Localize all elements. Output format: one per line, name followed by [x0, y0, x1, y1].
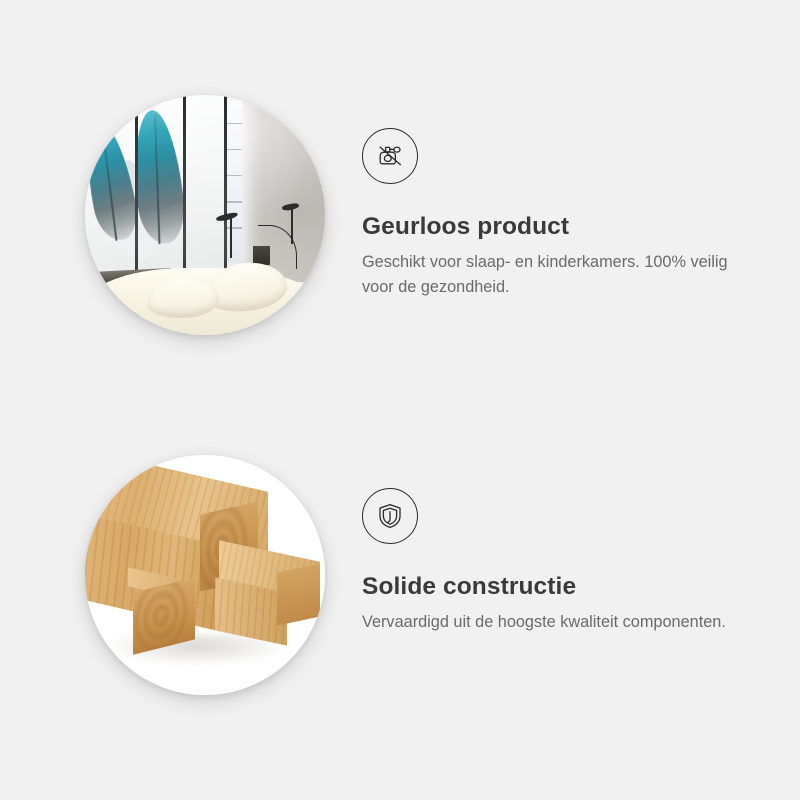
feature-text-odourless: Geurloos product Geschikt voor slaap- en…	[362, 128, 762, 299]
wall-lamp-stem	[291, 205, 293, 243]
feature-block-solid-construction: Solide constructie Vervaardigd uit de ho…	[0, 400, 800, 760]
shield-icon	[362, 488, 418, 544]
floor-lamp-stem	[230, 215, 232, 258]
bedroom-with-teal-feather-triptych-photo	[85, 95, 325, 335]
feature-title: Geurloos product	[362, 212, 762, 241]
product-feature-page: Geurloos product Geschikt voor slaap- en…	[0, 0, 800, 800]
feature-title: Solide constructie	[362, 572, 762, 601]
feature-image-wrap-odourless	[85, 95, 325, 335]
feather-wall-art	[85, 95, 224, 287]
feature-description: Vervaardigd uit de hoogste kwaliteit com…	[362, 610, 754, 634]
feature-description: Geschikt voor slaap- en kinderkamers. 10…	[362, 250, 754, 298]
wooden-blocks-photo	[85, 455, 325, 695]
wooden-blocks-scene	[85, 455, 325, 695]
feature-text-solid-construction: Solide constructie Vervaardigd uit de ho…	[362, 488, 762, 635]
right-block-end-face	[277, 563, 320, 625]
feature-image-wrap-solid-construction	[85, 455, 325, 695]
no-fragrance-glyph	[373, 139, 407, 173]
feature-block-odourless: Geurloos product Geschikt voor slaap- en…	[0, 40, 800, 400]
bedroom-scene	[85, 95, 325, 335]
shield-glyph	[373, 499, 407, 533]
no-fragrance-icon	[362, 128, 418, 184]
